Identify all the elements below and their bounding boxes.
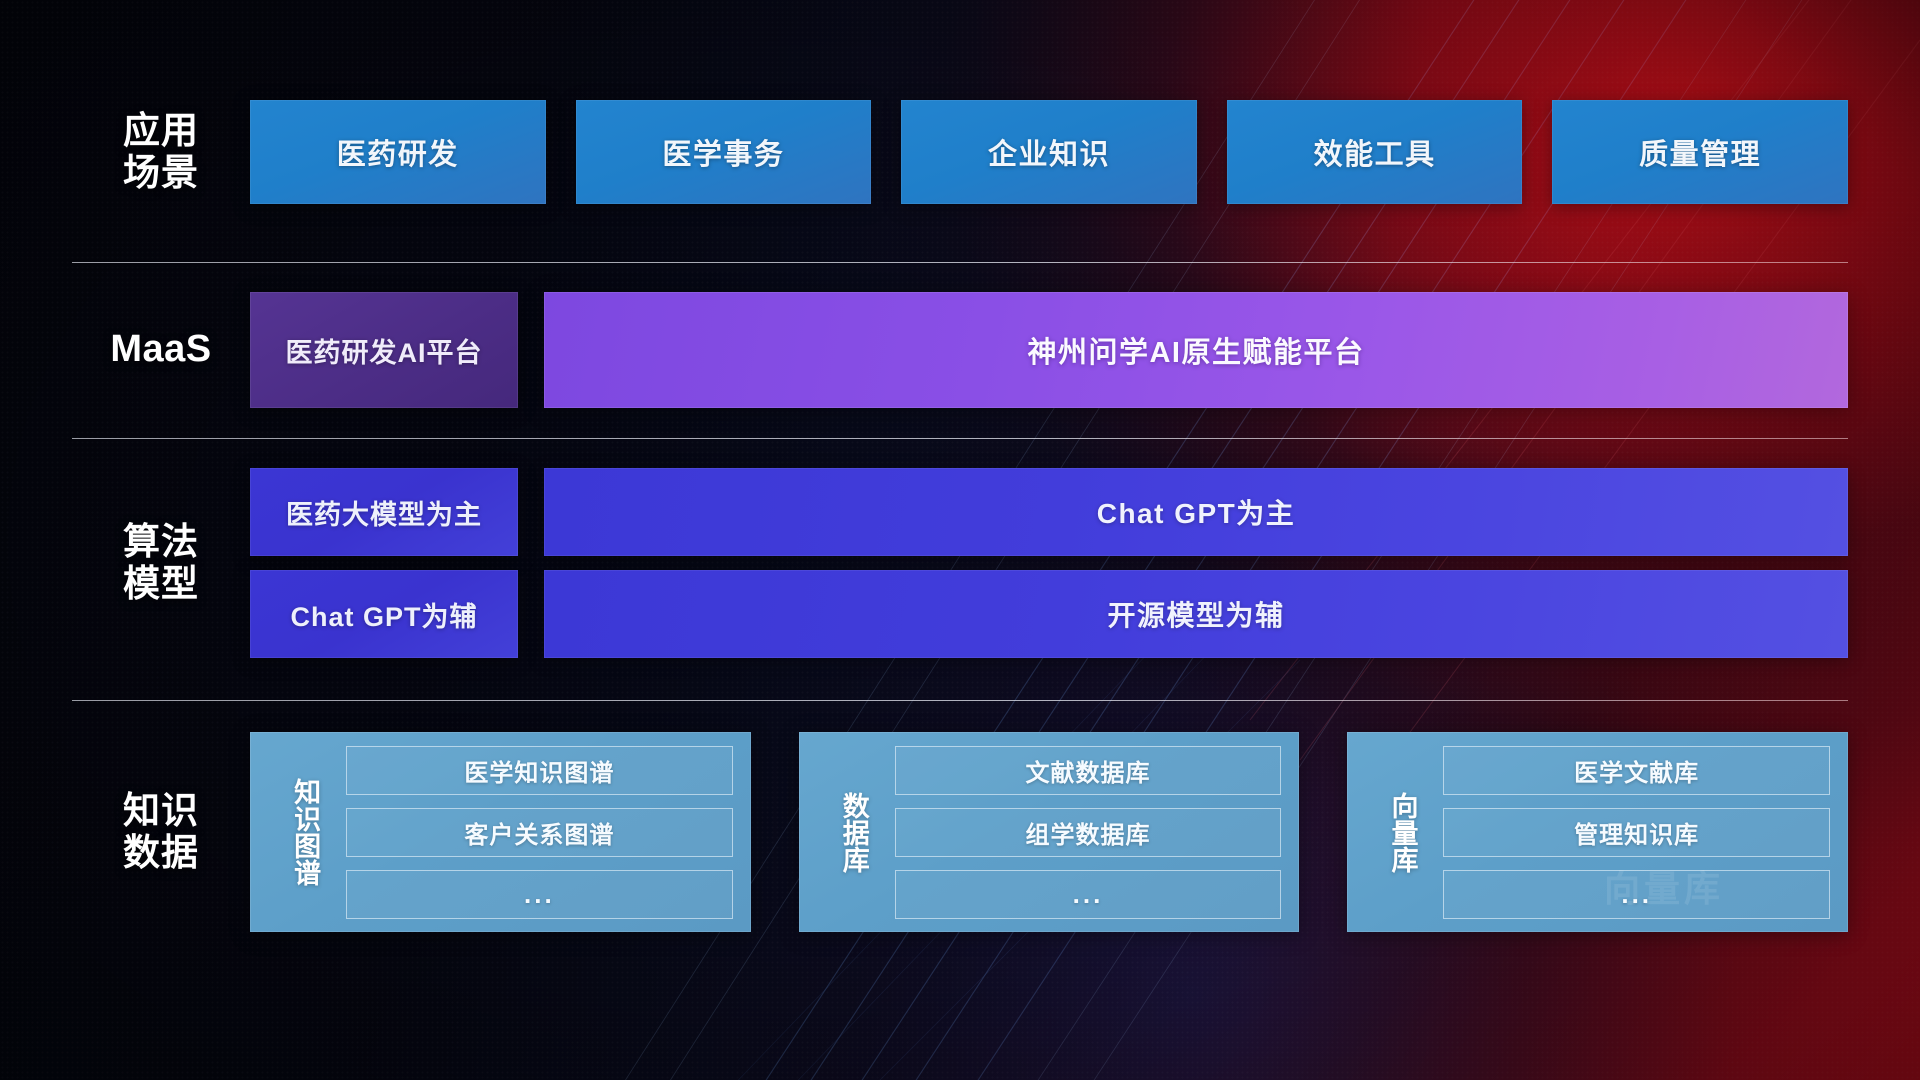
divider-3	[72, 700, 1848, 701]
algo-box-opensource-secondary[interactable]: 开源模型为辅	[544, 570, 1848, 658]
knowledge-card-database[interactable]: 数据库 文献数据库 组学数据库 ...	[799, 732, 1300, 932]
maas-box-shenzhou-wenxue-platform[interactable]: 神州问学AI原生赋能平台	[544, 292, 1848, 408]
algorithm-row-secondary: Chat GPT为辅 开源模型为辅	[250, 570, 1848, 658]
knowledge-card-knowledge-graph[interactable]: 知识图谱 医学知识图谱 客户关系图谱 ...	[250, 732, 751, 932]
row-label-line: 模型	[72, 563, 250, 605]
row-body-algorithm-models: 医药大模型为主 Chat GPT为主 Chat GPT为辅 开源模型为辅	[250, 468, 1848, 658]
slide-canvas: 应用 场景 医药研发 医学事务 企业知识 效能工具 质量管理 MaaS	[0, 0, 1920, 1080]
row-label-knowledge-data: 知识 数据	[72, 790, 250, 874]
row-application-scenarios: 应用 场景 医药研发 医学事务 企业知识 效能工具 质量管理	[72, 100, 1848, 204]
app-box-quality-management[interactable]: 质量管理	[1552, 100, 1848, 204]
knowledge-item-list: 医学知识图谱 客户关系图谱 ...	[346, 746, 733, 919]
knowledge-card-title-knowledge-graph: 知识图谱	[274, 746, 336, 918]
algo-box-chatgpt-primary[interactable]: Chat GPT为主	[544, 468, 1848, 556]
app-box-medical-affairs[interactable]: 医学事务	[576, 100, 872, 204]
row-label-line: 知识	[72, 790, 250, 832]
divider-2	[72, 438, 1848, 439]
row-label-line: 场景	[72, 152, 250, 194]
knowledge-item-more[interactable]: ...	[346, 870, 733, 919]
row-maas: MaaS 医药研发AI平台 神州问学AI原生赋能平台	[72, 292, 1848, 408]
row-body-maas: 医药研发AI平台 神州问学AI原生赋能平台	[250, 292, 1848, 408]
application-box-group: 医药研发 医学事务 企业知识 效能工具 质量管理	[250, 100, 1848, 204]
algorithm-box-group: 医药大模型为主 Chat GPT为主 Chat GPT为辅 开源模型为辅	[250, 468, 1848, 658]
knowledge-item-omics-database[interactable]: 组学数据库	[895, 808, 1282, 857]
row-label-line: 应用	[72, 110, 250, 152]
knowledge-item-list: 文献数据库 组学数据库 ...	[895, 746, 1282, 919]
knowledge-item-list: 医学文献库 管理知识库 ...	[1443, 746, 1830, 919]
maas-box-pharma-ai-platform[interactable]: 医药研发AI平台	[250, 292, 518, 408]
row-knowledge-data: 知识 数据 知识图谱 医学知识图谱 客户关系图谱 ... 数据库	[72, 732, 1848, 932]
algo-box-pharma-llm-primary[interactable]: 医药大模型为主	[250, 468, 518, 556]
row-label-line: 数据	[72, 832, 250, 874]
row-algorithm-models: 算法 模型 医药大模型为主 Chat GPT为主 Chat GPT为辅 开源模型…	[72, 468, 1848, 658]
row-label-algorithm-models: 算法 模型	[72, 521, 250, 605]
knowledge-item-more[interactable]: ...	[895, 870, 1282, 919]
row-body-application-scenarios: 医药研发 医学事务 企业知识 效能工具 质量管理	[250, 100, 1848, 204]
row-label-maas: MaaS	[72, 328, 250, 371]
knowledge-card-vector-store[interactable]: 向量库 医学文献库 管理知识库 ...	[1347, 732, 1848, 932]
app-box-medicine-rd[interactable]: 医药研发	[250, 100, 546, 204]
knowledge-item-medical-knowledge-graph[interactable]: 医学知识图谱	[346, 746, 733, 795]
row-body-knowledge-data: 知识图谱 医学知识图谱 客户关系图谱 ... 数据库 文献数据库 组学数据库 .…	[250, 732, 1848, 932]
app-box-enterprise-knowledge[interactable]: 企业知识	[901, 100, 1197, 204]
algorithm-row-primary: 医药大模型为主 Chat GPT为主	[250, 468, 1848, 556]
knowledge-card-title-vector-store: 向量库	[1371, 746, 1433, 918]
algo-box-chatgpt-secondary[interactable]: Chat GPT为辅	[250, 570, 518, 658]
knowledge-item-medical-literature-store[interactable]: 医学文献库	[1443, 746, 1830, 795]
maas-box-group: 医药研发AI平台 神州问学AI原生赋能平台	[250, 292, 1848, 408]
row-label-line: 算法	[72, 521, 250, 563]
knowledge-card-group: 知识图谱 医学知识图谱 客户关系图谱 ... 数据库 文献数据库 组学数据库 .…	[250, 732, 1848, 932]
knowledge-item-management-knowledge-store[interactable]: 管理知识库	[1443, 808, 1830, 857]
knowledge-item-literature-database[interactable]: 文献数据库	[895, 746, 1282, 795]
row-label-line: MaaS	[72, 328, 250, 371]
knowledge-item-more[interactable]: ...	[1443, 870, 1830, 919]
knowledge-item-customer-relation-graph[interactable]: 客户关系图谱	[346, 808, 733, 857]
divider-1	[72, 262, 1848, 263]
app-box-efficiency-tools[interactable]: 效能工具	[1227, 100, 1523, 204]
row-label-application-scenarios: 应用 场景	[72, 110, 250, 194]
knowledge-card-title-database: 数据库	[823, 746, 885, 918]
